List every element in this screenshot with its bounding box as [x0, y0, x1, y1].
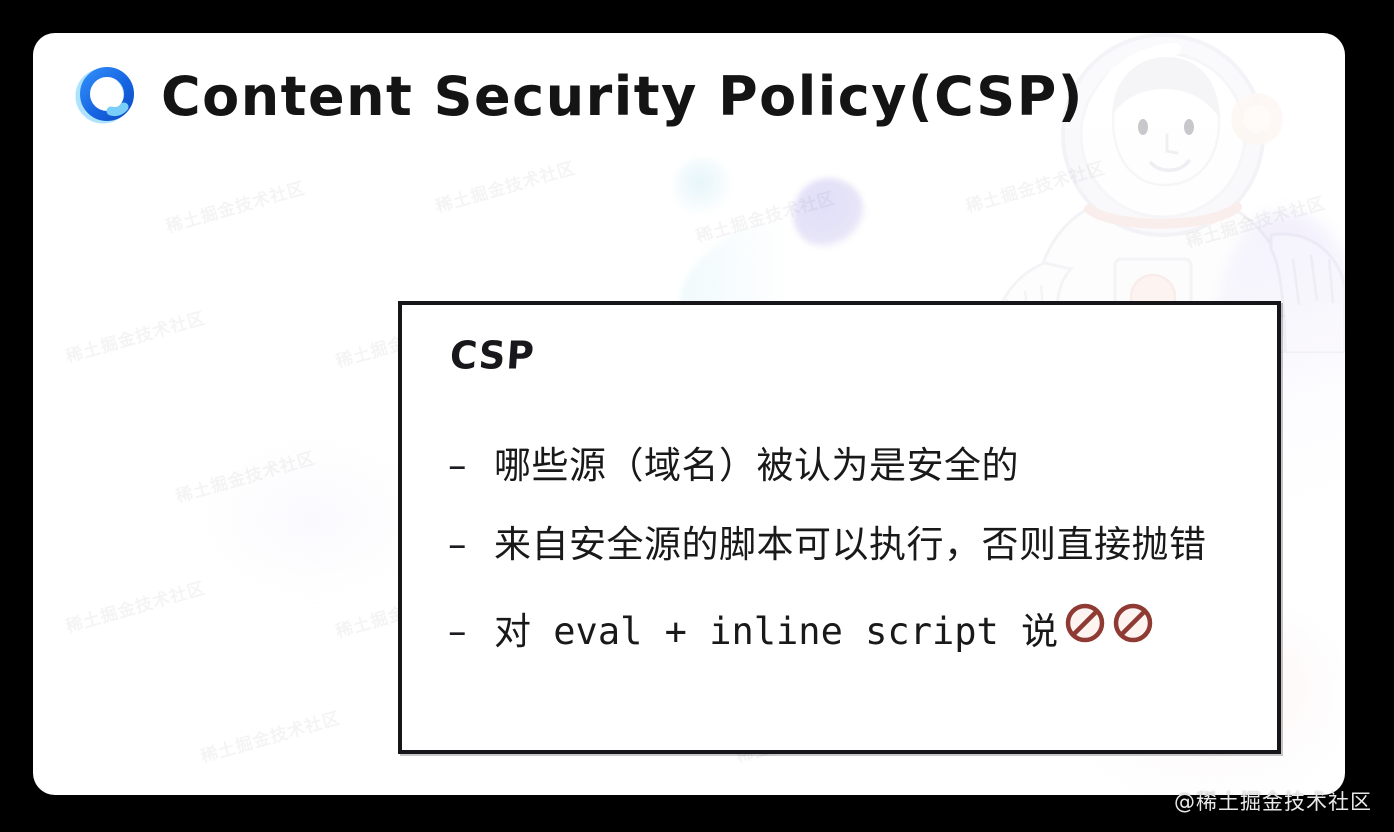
- bullet-dash-icon: –: [448, 524, 494, 567]
- prohibited-sign-icon: [1064, 602, 1106, 644]
- tile-watermark: 稀土掘金技术社区: [62, 304, 207, 368]
- tile-watermark: 稀土掘金技术社区: [962, 154, 1107, 218]
- slide-header: Content Security Policy(CSP): [33, 33, 1084, 129]
- bullet-dash-icon: –: [448, 445, 494, 488]
- juejin-q-logo-icon: [73, 63, 139, 129]
- tile-watermark: 稀土掘金技术社区: [692, 184, 837, 248]
- bullet-text: 对 eval + inline script 说: [494, 611, 1058, 654]
- tile-watermark: 稀土掘金技术社区: [197, 704, 342, 768]
- tile-watermark: 稀土掘金技术社区: [62, 574, 207, 638]
- tile-watermark: 稀土掘金技术社区: [1182, 189, 1327, 253]
- community-watermark: @稀土掘金技术社区: [1174, 786, 1372, 816]
- csp-content-box: CSP – 哪些源（域名）被认为是安全的 – 来自安全源的脚本可以执行，否则直接…: [398, 301, 1281, 754]
- tile-watermark: 稀土掘金技术社区: [172, 444, 317, 508]
- bullet-dash-icon: –: [448, 611, 494, 654]
- screenshot-root: 稀土掘金技术社区 稀土掘金技术社区 稀土掘金技术社区 稀土掘金技术社区 稀土掘金…: [0, 0, 1394, 832]
- bullet-text: 哪些源（域名）被认为是安全的: [494, 445, 1019, 488]
- list-item: – 来自安全源的脚本可以执行，否则直接抛错: [448, 524, 1251, 567]
- soft-left-gradient-decoration: [203, 443, 423, 593]
- bullet-text: 来自安全源的脚本可以执行，否则直接抛错: [494, 524, 1207, 567]
- page-title: Content Security Policy(CSP): [161, 68, 1084, 124]
- tile-watermark: 稀土掘金技术社区: [162, 174, 307, 238]
- tile-watermark: 稀土掘金技术社区: [432, 154, 577, 218]
- presentation-slide: 稀土掘金技术社区 稀土掘金技术社区 稀土掘金技术社区 稀土掘金技术社区 稀土掘金…: [33, 33, 1345, 795]
- csp-bullet-list: – 哪些源（域名）被认为是安全的 – 来自安全源的脚本可以执行，否则直接抛错 –…: [448, 445, 1251, 654]
- list-item: – 哪些源（域名）被认为是安全的: [448, 445, 1251, 488]
- csp-box-label: CSP: [449, 336, 536, 374]
- purple-circle-decoration: [793, 178, 865, 250]
- prohibited-sign-icon: [1112, 602, 1154, 644]
- cyan-circle-decoration: [673, 158, 733, 218]
- list-item: – 对 eval + inline script 说: [448, 602, 1251, 654]
